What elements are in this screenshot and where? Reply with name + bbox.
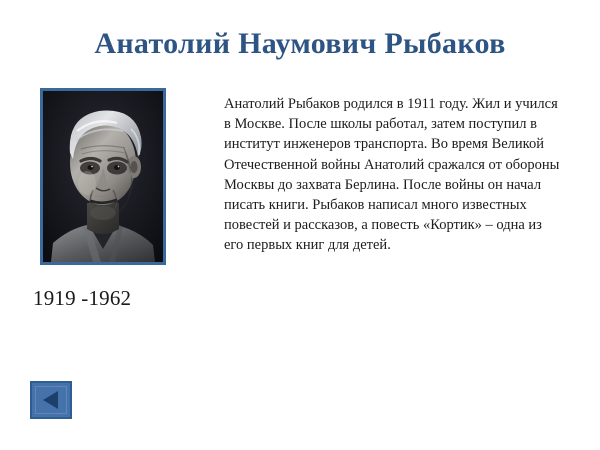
slide-canvas: Анатолий Наумович Рыбаков [0,0,600,450]
biography-text: Анатолий Рыбаков родился в 1911 году. Жи… [224,94,562,256]
triangle-left-icon [43,391,58,409]
back-button-inner [35,386,67,414]
portrait-frame [40,88,166,265]
portrait-photo-anatoly-rybakov [43,91,163,262]
life-dates: 1919 -1962 [33,286,131,311]
page-title: Анатолий Наумович Рыбаков [0,27,600,61]
back-navigation-button[interactable] [30,381,72,419]
